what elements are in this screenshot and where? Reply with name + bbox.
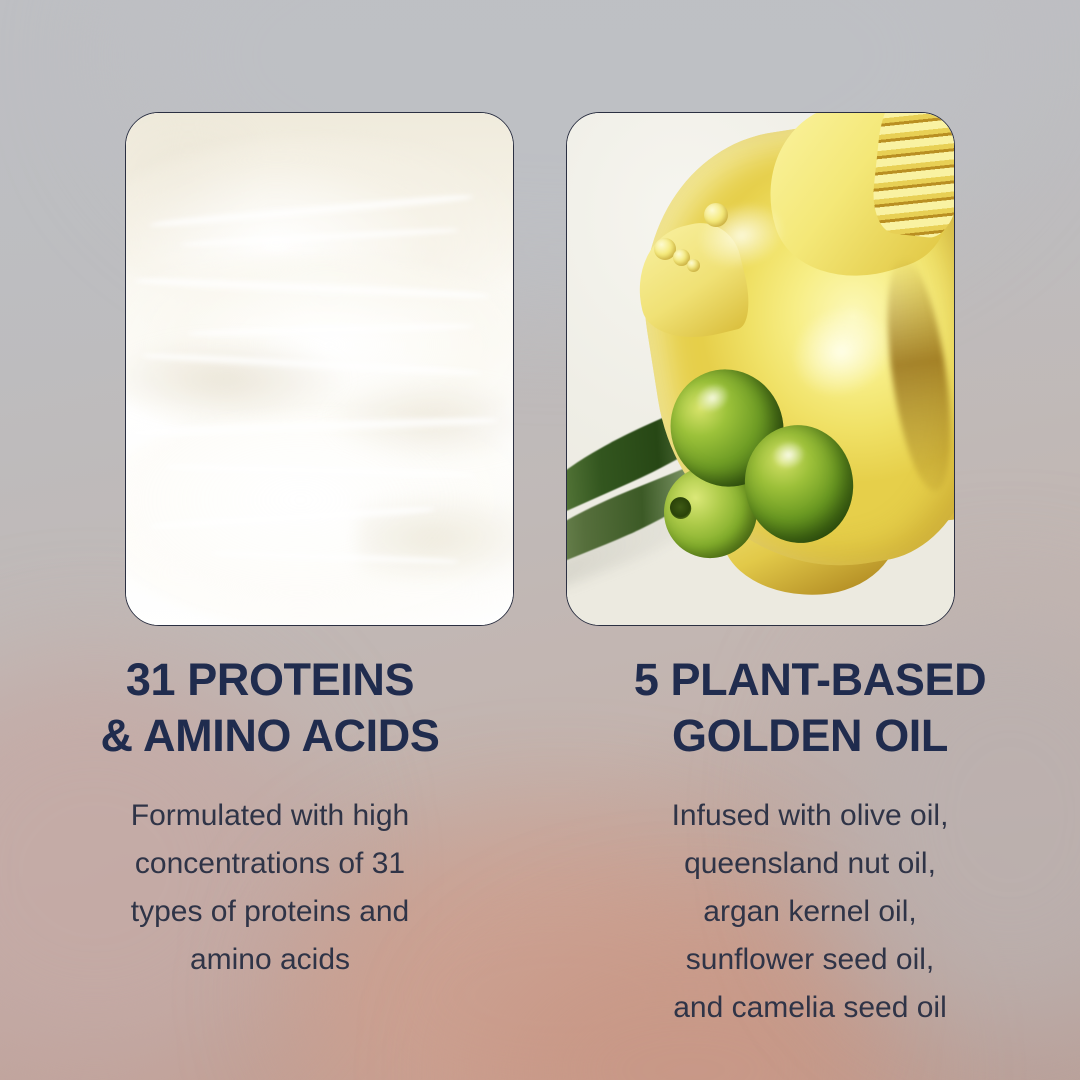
golden-oil-body-line-3: argan kernel oil, [672, 888, 949, 936]
benefit-text-row: 31 PROTEINS & AMINO ACIDS Formulated wit… [0, 652, 1080, 1032]
infographic-canvas: 31 PROTEINS & AMINO ACIDS Formulated wit… [0, 0, 1080, 1080]
oil-droplet [687, 259, 700, 272]
proteins-body-line-3: types of proteins and [131, 888, 410, 936]
proteins-body-copy: Formulated with high concentrations of 3… [131, 792, 410, 984]
proteins-headline-line-1: 31 PROTEINS [101, 652, 440, 708]
image-card-row [125, 112, 955, 624]
proteins-body-line-2: concentrations of 31 [131, 840, 410, 888]
oil-splash-stream [869, 112, 955, 240]
golden-oil-headline: 5 PLANT-BASED GOLDEN OIL [634, 652, 986, 764]
golden-oil-headline-line-1: 5 PLANT-BASED [634, 652, 986, 708]
cream-texture-card [125, 112, 514, 626]
golden-oil-body-line-2: queensland nut oil, [672, 840, 949, 888]
golden-oil-body-line-1: Infused with olive oil, [672, 792, 949, 840]
benefit-column-proteins: 31 PROTEINS & AMINO ACIDS Formulated wit… [0, 652, 540, 1032]
cream-texture-image [126, 113, 513, 625]
proteins-body-line-1: Formulated with high [131, 792, 410, 840]
golden-oil-body-copy: Infused with olive oil, queensland nut o… [672, 792, 949, 1032]
benefit-column-golden-oil: 5 PLANT-BASED GOLDEN OIL Infused with ol… [540, 652, 1080, 1032]
golden-oil-card [566, 112, 955, 626]
golden-oil-headline-line-2: GOLDEN OIL [634, 708, 986, 764]
golden-oil-image [567, 113, 954, 625]
cream-shadow-left [125, 338, 347, 420]
golden-oil-body-line-4: sunflower seed oil, [672, 936, 949, 984]
proteins-body-line-4: amino acids [131, 936, 410, 984]
golden-oil-body-line-5: and camelia seed oil [672, 984, 949, 1032]
cream-shadow-bottom-right [358, 492, 514, 584]
proteins-headline-line-2: & AMINO ACIDS [101, 708, 440, 764]
oil-droplet [704, 203, 728, 227]
proteins-headline: 31 PROTEINS & AMINO ACIDS [101, 652, 440, 764]
